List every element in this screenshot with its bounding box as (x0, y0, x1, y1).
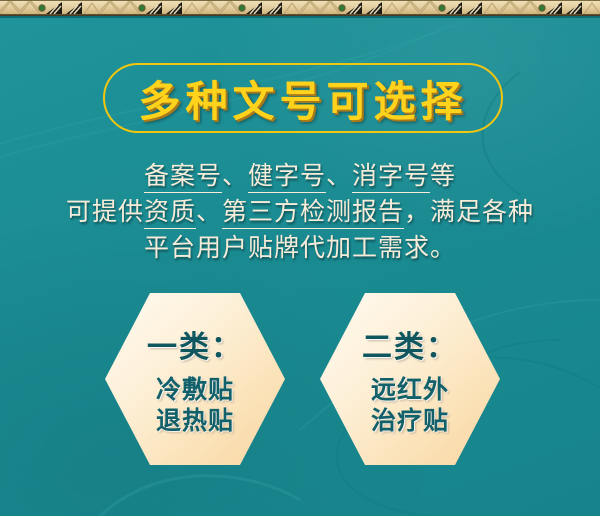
plain-text: 平台用户贴牌代加工需求。 (144, 233, 456, 262)
description-line: 备案号、健字号、消字号等 (0, 158, 600, 194)
underlined-term: 健字号 (248, 161, 326, 193)
category-item: 退热贴 (156, 405, 234, 436)
description-block: 备案号、健字号、消字号等 可提供资质、第三方检测报告，满足各种 平台用户贴牌代加… (0, 158, 600, 266)
category-item: 治疗贴 (371, 405, 449, 436)
promo-poster: 多种文号可选择 备案号、健字号、消字号等 可提供资质、第三方检测报告，满足各种 … (0, 0, 600, 516)
underlined-term: 消字号 (352, 161, 430, 193)
border-teal-rule (0, 16, 600, 18)
plain-text: 、 (196, 197, 222, 226)
category-title: 二类： (362, 322, 458, 366)
underlined-term: 备案号 (144, 161, 222, 193)
border-top-rule (0, 0, 600, 1)
plain-text: 、 (326, 161, 352, 190)
category-items: 远红外治疗贴 (371, 374, 449, 436)
underlined-term: 资质 (144, 197, 196, 229)
category-item: 远红外 (371, 374, 449, 405)
top-decorative-border (0, 0, 600, 18)
category-item: 冷敷贴 (156, 374, 234, 405)
category-items: 冷敷贴退热贴 (156, 374, 234, 436)
plain-text: 、 (222, 161, 248, 190)
description-line: 可提供资质、第三方检测报告，满足各种 (0, 194, 600, 230)
category-title: 一类： (147, 322, 243, 366)
page-title: 多种文号可选择 (103, 63, 503, 133)
plain-text: 等 (430, 161, 456, 190)
plain-text: 可提供 (66, 197, 144, 226)
underlined-term: 第三方检测报告 (222, 197, 404, 229)
description-line: 平台用户贴牌代加工需求。 (0, 230, 600, 266)
plain-text: ，满足各种 (404, 197, 534, 226)
